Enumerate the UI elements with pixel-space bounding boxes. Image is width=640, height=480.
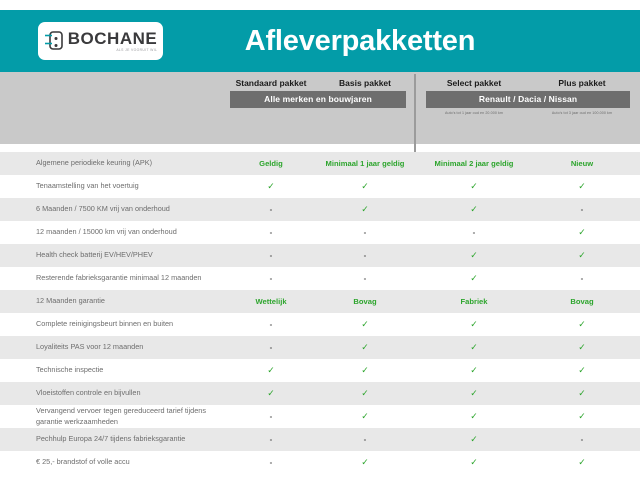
table-row: Vervangend vervoer tegen gereduceerd tar… bbox=[0, 405, 640, 428]
cell-select: ✓ bbox=[420, 388, 528, 399]
feature-label: Pechhulp Europa 24/7 tijdens fabrieksgar… bbox=[0, 434, 224, 445]
cell-basis: ✓ bbox=[318, 204, 412, 215]
cell-standaard: - bbox=[224, 320, 318, 329]
cell-select: Fabriek bbox=[420, 297, 528, 306]
table-row: Loyaliteits PAS voor 12 maanden-✓✓✓ bbox=[0, 336, 640, 359]
afleverpakketten-page: Afleverpakketten BOCHANE ALS JE VOORUIT … bbox=[0, 0, 640, 480]
cell-select: ✓ bbox=[420, 457, 528, 468]
cell-plus: ✓ bbox=[528, 250, 636, 261]
cell-select: ✓ bbox=[420, 434, 528, 445]
cell-basis: ✓ bbox=[318, 388, 412, 399]
feature-label: Loyaliteits PAS voor 12 maanden bbox=[0, 342, 224, 353]
cell-plus: ✓ bbox=[528, 181, 636, 192]
cell-basis: ✓ bbox=[318, 181, 412, 192]
table-row: 6 Maanden / 7500 KM vrij van onderhoud-✓… bbox=[0, 198, 640, 221]
group-bar-renault-dacia-nissan: Renault / Dacia / Nissan bbox=[426, 91, 630, 108]
group-bar-all-brands: Alle merken en bouwjaren bbox=[230, 91, 406, 108]
table-row: Technische inspectie✓✓✓✓ bbox=[0, 359, 640, 382]
cell-plus: - bbox=[528, 435, 636, 444]
cell-standaard: - bbox=[224, 343, 318, 352]
feature-label: Algemene periodieke keuring (APK) bbox=[0, 158, 224, 169]
table-row: Health check batterij EV/HEV/PHEV--✓✓ bbox=[0, 244, 640, 267]
cell-standaard: - bbox=[224, 274, 318, 283]
page-header: Afleverpakketten BOCHANE ALS JE VOORUIT … bbox=[0, 10, 640, 72]
bochane-logo[interactable]: BOCHANE ALS JE VOORUIT WIL bbox=[38, 22, 163, 60]
cell-standaard: ✓ bbox=[224, 365, 318, 376]
feature-label: Vloeistoffen controle en bijvullen bbox=[0, 388, 224, 399]
column-sub-select: Auto's tot 1 jaar oud en 20.000 km bbox=[420, 111, 528, 115]
cell-plus: ✓ bbox=[528, 388, 636, 399]
logo-wordmark: BOCHANE ALS JE VOORUIT WIL bbox=[68, 30, 157, 52]
cell-standaard: - bbox=[224, 228, 318, 237]
cell-basis: Bovag bbox=[318, 297, 412, 306]
cell-basis: ✓ bbox=[318, 319, 412, 330]
cell-basis: - bbox=[318, 251, 412, 260]
cell-standaard: - bbox=[224, 205, 318, 214]
cell-standaard: ✓ bbox=[224, 388, 318, 399]
cell-select: ✓ bbox=[420, 342, 528, 353]
cell-standaard: - bbox=[224, 458, 318, 467]
cell-plus: Bovag bbox=[528, 297, 636, 306]
table-row: Algemene periodieke keuring (APK)GeldigM… bbox=[0, 152, 640, 175]
cell-basis: ✓ bbox=[318, 457, 412, 468]
feature-label: 12 Maanden garantie bbox=[0, 296, 224, 307]
cell-standaard: - bbox=[224, 412, 318, 421]
cell-plus: ✓ bbox=[528, 227, 636, 238]
cell-basis: - bbox=[318, 274, 412, 283]
table-row: Resterende fabrieksgarantie minimaal 12 … bbox=[0, 267, 640, 290]
cell-standaard: ✓ bbox=[224, 181, 318, 192]
table-row: Tenaamstelling van het voertuig✓✓✓✓ bbox=[0, 175, 640, 198]
cell-select: - bbox=[420, 228, 528, 237]
cell-select: ✓ bbox=[420, 319, 528, 330]
cell-select: ✓ bbox=[420, 273, 528, 284]
column-header-plus[interactable]: Plus pakket bbox=[528, 78, 636, 88]
table-row: Vloeistoffen controle en bijvullen✓✓✓✓ bbox=[0, 382, 640, 405]
car-key-icon bbox=[44, 30, 64, 52]
cell-standaard: Geldig bbox=[224, 159, 318, 168]
cell-select: ✓ bbox=[420, 411, 528, 422]
feature-table: Algemene periodieke keuring (APK)GeldigM… bbox=[0, 152, 640, 474]
cell-plus: ✓ bbox=[528, 319, 636, 330]
cell-select: Minimaal 2 jaar geldig bbox=[420, 159, 528, 168]
cell-basis: ✓ bbox=[318, 411, 412, 422]
cell-standaard: - bbox=[224, 435, 318, 444]
feature-label: Vervangend vervoer tegen gereduceerd tar… bbox=[0, 406, 224, 428]
cell-basis: ✓ bbox=[318, 342, 412, 353]
table-row: € 25,- brandstof of volle accu-✓✓✓ bbox=[0, 451, 640, 474]
package-group-renault-dacia-nissan: Select pakket Plus pakket Renault / Daci… bbox=[420, 72, 636, 144]
cell-basis: Minimaal 1 jaar geldig bbox=[318, 159, 412, 168]
group-package-names: Standaard pakket Basis pakket bbox=[224, 72, 412, 88]
table-row: 12 Maanden garantieWettelijkBovagFabriek… bbox=[0, 290, 640, 313]
cell-plus: ✓ bbox=[528, 365, 636, 376]
feature-label: Complete reinigingsbeurt binnen en buite… bbox=[0, 319, 224, 330]
cell-plus: ✓ bbox=[528, 342, 636, 353]
feature-label: € 25,- brandstof of volle accu bbox=[0, 457, 224, 468]
cell-standaard: Wettelijk bbox=[224, 297, 318, 306]
feature-label: Health check batterij EV/HEV/PHEV bbox=[0, 250, 224, 261]
table-row: Pechhulp Europa 24/7 tijdens fabrieksgar… bbox=[0, 428, 640, 451]
cell-select: ✓ bbox=[420, 204, 528, 215]
cell-plus: Nieuw bbox=[528, 159, 636, 168]
group-subnotes: Auto's tot 1 jaar oud en 20.000 km Auto'… bbox=[420, 111, 636, 115]
package-group-all-brands: Standaard pakket Basis pakket Alle merke… bbox=[224, 72, 412, 144]
column-header-select[interactable]: Select pakket bbox=[420, 78, 528, 88]
column-header-basis[interactable]: Basis pakket bbox=[318, 78, 412, 88]
cell-basis: ✓ bbox=[318, 365, 412, 376]
column-header-band: Standaard pakket Basis pakket Alle merke… bbox=[0, 72, 640, 144]
group-package-names: Select pakket Plus pakket bbox=[420, 72, 636, 88]
column-header-standaard[interactable]: Standaard pakket bbox=[224, 78, 318, 88]
feature-label: Technische inspectie bbox=[0, 365, 224, 376]
feature-label: 6 Maanden / 7500 KM vrij van onderhoud bbox=[0, 204, 224, 215]
table-row: 12 maanden / 15000 km vrij van onderhoud… bbox=[0, 221, 640, 244]
table-row: Complete reinigingsbeurt binnen en buite… bbox=[0, 313, 640, 336]
cell-select: ✓ bbox=[420, 250, 528, 261]
cell-basis: - bbox=[318, 435, 412, 444]
cell-standaard: - bbox=[224, 251, 318, 260]
cell-select: ✓ bbox=[420, 181, 528, 192]
cell-plus: - bbox=[528, 205, 636, 214]
feature-label: Tenaamstelling van het voertuig bbox=[0, 181, 224, 192]
logo-tagline: ALS JE VOORUIT WIL bbox=[116, 49, 157, 52]
feature-label: Resterende fabrieksgarantie minimaal 12 … bbox=[0, 273, 224, 284]
cell-select: ✓ bbox=[420, 365, 528, 376]
feature-label: 12 maanden / 15000 km vrij van onderhoud bbox=[0, 227, 224, 238]
column-sub-plus: Auto's tot 3 jaar oud en 100.000 km bbox=[528, 111, 636, 115]
cell-plus: - bbox=[528, 274, 636, 283]
logo-word: BOCHANE bbox=[68, 30, 157, 47]
cell-plus: ✓ bbox=[528, 411, 636, 422]
cell-basis: - bbox=[318, 228, 412, 237]
cell-plus: ✓ bbox=[528, 457, 636, 468]
